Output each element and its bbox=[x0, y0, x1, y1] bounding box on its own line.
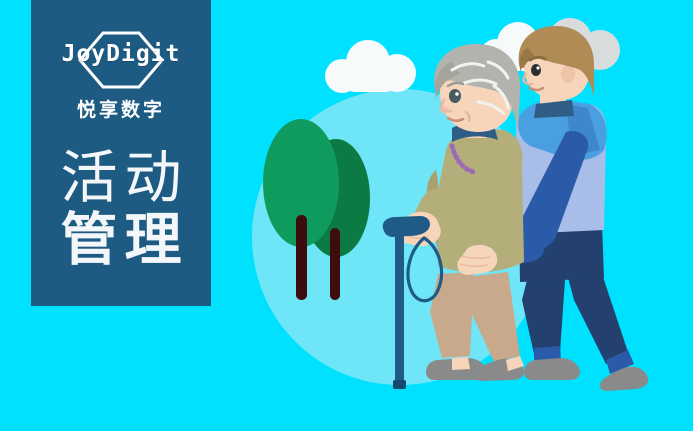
young-man-shoe-back bbox=[600, 367, 648, 391]
young-man bbox=[501, 26, 648, 391]
young-man-shoe-front bbox=[524, 358, 580, 380]
logo-wordmark: JoyDigit bbox=[51, 41, 191, 67]
cloud-left bbox=[325, 40, 416, 93]
brand-panel: JoyDigit 悦享数字 活动 管理 bbox=[31, 0, 211, 306]
company-name-cn: 悦享数字 bbox=[77, 95, 165, 122]
cane-shaft bbox=[395, 235, 404, 385]
title-line-1: 活动 bbox=[31, 148, 211, 208]
poster-title: 活动 管理 bbox=[31, 148, 211, 271]
title-line-2: 管理 bbox=[31, 210, 211, 270]
cane-tip bbox=[393, 380, 406, 389]
logo-block: JoyDigit bbox=[51, 31, 191, 89]
poster-canvas: JoyDigit 悦享数字 活动 管理 bbox=[0, 0, 693, 431]
